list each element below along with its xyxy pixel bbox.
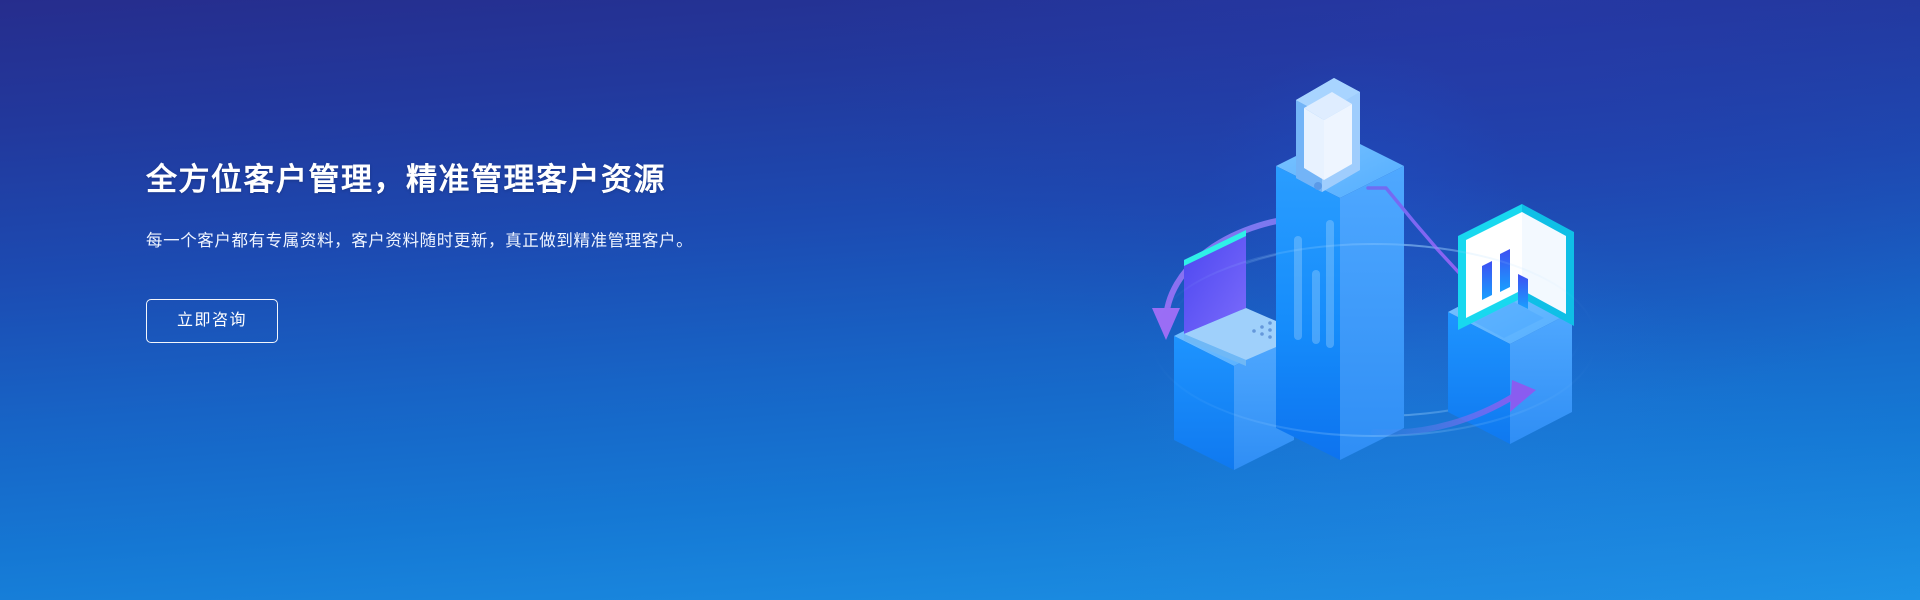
hero-illustration [1118, 40, 1638, 540]
page-title: 全方位客户管理，精准管理客户资源 [146, 160, 786, 200]
hero-subtitle: 每一个客户都有专属资料，客户资料随时更新，真正做到精准管理客户。 [146, 228, 738, 255]
tablet-icon [1296, 78, 1360, 192]
hero-banner: 全方位客户管理，精准管理客户资源 每一个客户都有专属资料，客户资料随时更新，真正… [0, 0, 1920, 600]
hero-copy-block: 全方位客户管理，精准管理客户资源 每一个客户都有专属资料，客户资料随时更新，真正… [146, 160, 786, 343]
consult-now-button[interactable]: 立即咨询 [146, 299, 278, 343]
pillar-center [1276, 134, 1404, 460]
